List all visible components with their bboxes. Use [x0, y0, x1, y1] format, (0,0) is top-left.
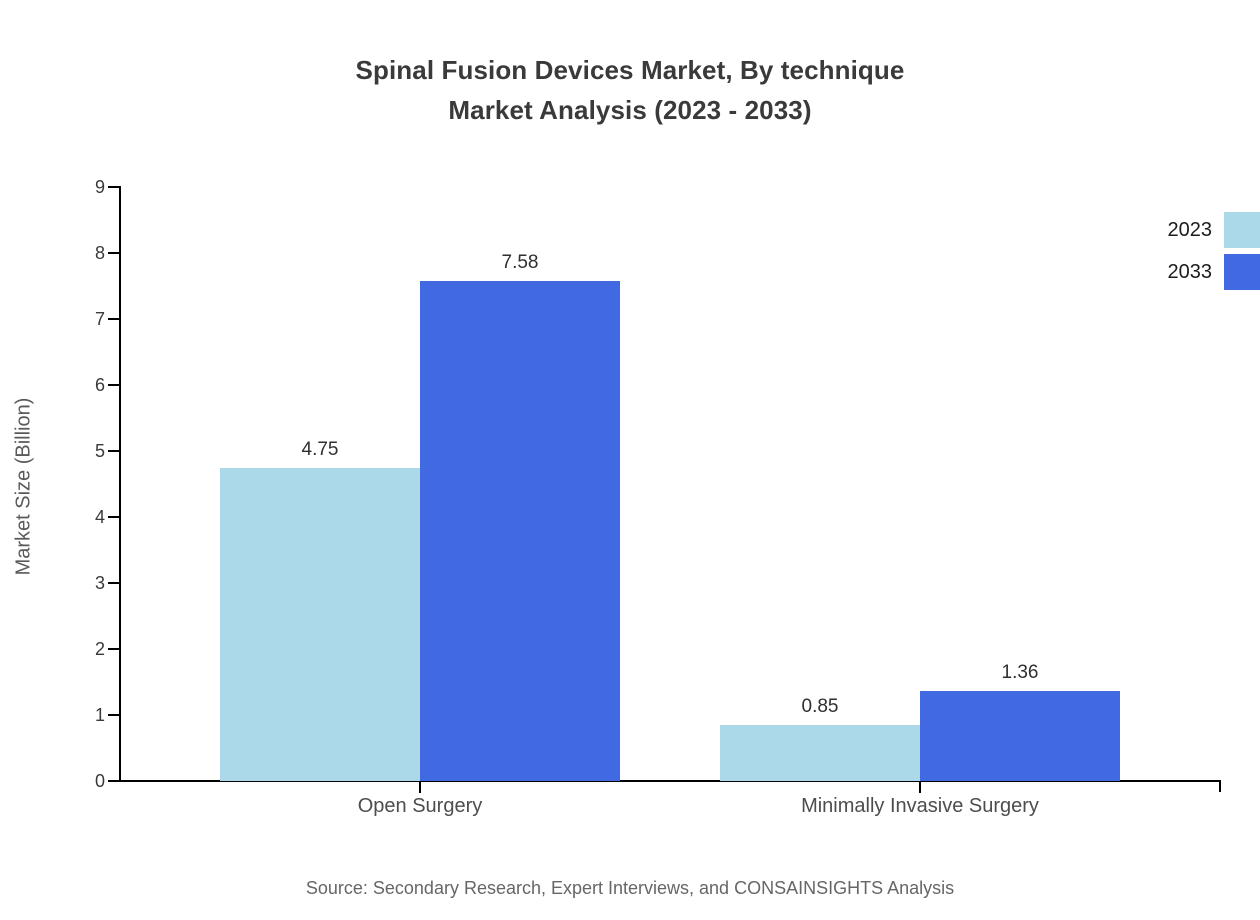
bar-2033-open-surgery[interactable]	[420, 281, 620, 781]
y-tick-label-0: 0	[45, 772, 105, 790]
y-tick-6	[108, 384, 119, 386]
legend-item-2033[interactable]: 2033	[1100, 254, 1260, 290]
y-tick-8	[108, 252, 119, 254]
y-tick-3	[108, 582, 119, 584]
legend-item-2023[interactable]: 2023	[1100, 212, 1260, 248]
y-tick-label-5: 5	[45, 442, 105, 460]
y-tick-7	[108, 318, 119, 320]
bar-2023-minimally-invasive-surgery[interactable]	[720, 725, 920, 781]
x-tick-open-surgery	[419, 782, 421, 793]
y-tick-4	[108, 516, 119, 518]
legend-label-2033: 2033	[1100, 261, 1212, 283]
legend-swatch-2023	[1224, 212, 1260, 248]
y-tick-2	[108, 648, 119, 650]
legend-swatch-2033	[1224, 254, 1260, 290]
y-tick-label-6: 6	[45, 376, 105, 394]
bar-value-label-2023-minimally-invasive-surgery: 0.85	[720, 696, 920, 718]
y-tick-label-7: 7	[45, 310, 105, 328]
y-tick-1	[108, 714, 119, 716]
y-tick-label-8: 8	[45, 244, 105, 262]
category-label-minimally-invasive-surgery: Minimally Invasive Surgery	[670, 795, 1170, 818]
bar-value-label-2033-minimally-invasive-surgery: 1.36	[920, 662, 1120, 684]
category-label-open-surgery: Open Surgery	[170, 795, 670, 818]
bar-chart-figure: Spinal Fusion Devices Market, By techniq…	[0, 0, 1260, 920]
chart-legend: 2023 2033	[1100, 212, 1260, 308]
x-axis-right-cap	[1219, 780, 1221, 792]
y-tick-5	[108, 450, 119, 452]
bar-2033-minimally-invasive-surgery[interactable]	[920, 691, 1120, 781]
y-tick-label-3: 3	[45, 574, 105, 592]
y-tick-label-4: 4	[45, 508, 105, 526]
chart-title-line-2: Market Analysis (2023 - 2033)	[0, 90, 1260, 130]
chart-title: Spinal Fusion Devices Market, By techniq…	[0, 50, 1260, 130]
x-tick-minimally-invasive-surgery	[919, 782, 921, 793]
bar-value-label-2023-open-surgery: 4.75	[220, 439, 420, 461]
bar-2023-open-surgery[interactable]	[220, 468, 420, 782]
y-tick-9	[108, 186, 119, 188]
source-note: Source: Secondary Research, Expert Inter…	[0, 878, 1260, 899]
y-tick-0	[108, 780, 119, 782]
y-tick-label-2: 2	[45, 640, 105, 658]
y-axis-title: Market Size (Billion)	[13, 207, 36, 767]
chart-title-line-1: Spinal Fusion Devices Market, By techniq…	[356, 55, 905, 85]
y-tick-label-1: 1	[45, 706, 105, 724]
legend-label-2023: 2023	[1100, 219, 1212, 241]
y-axis-line	[119, 186, 121, 782]
y-tick-label-9: 9	[45, 178, 105, 196]
bar-value-label-2033-open-surgery: 7.58	[420, 252, 620, 274]
